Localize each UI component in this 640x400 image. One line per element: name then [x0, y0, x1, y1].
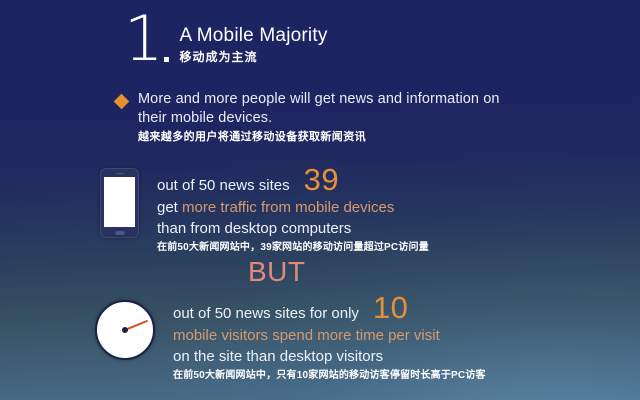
stat-line-2-prefix: get: [157, 199, 182, 216]
header-text-group: A Mobile Majority 移动成为主流: [179, 10, 327, 65]
section-number: 1: [124, 10, 161, 68]
stat-line-2: get more traffic from mobile devices: [157, 197, 429, 218]
stat-block-mobile-traffic: out of 50 news sites 39 get more traffic…: [100, 164, 429, 255]
stat-caption-cn: 在前50大新闻网站中，39家网站的移动访问量超过PC访问量: [157, 240, 429, 255]
phone-speaker-icon: [116, 173, 124, 175]
stat-row: out of 50 news sites for only 10 mobile …: [95, 292, 486, 383]
section-number-group: 1: [124, 10, 169, 68]
stat-line-3: than from desktop computers: [157, 218, 429, 239]
phone-screen: [104, 177, 135, 227]
stat-number: 39: [304, 164, 339, 195]
stat-headline-row: out of 50 news sites 39: [157, 164, 429, 197]
bullet-line-1: More and more people will get news and i…: [138, 90, 500, 109]
stat-block-time-on-site: out of 50 news sites for only 10 mobile …: [95, 292, 486, 383]
stat-line-2-highlight: mobile visitors spend more time per visi…: [173, 327, 440, 344]
mobile-phone-icon: [100, 168, 139, 238]
slide-header: 1 A Mobile Majority 移动成为主流: [124, 10, 328, 68]
bullet-line-2: their mobile devices.: [138, 109, 500, 128]
stat-text-group: out of 50 news sites for only 10 mobile …: [173, 292, 486, 383]
stat-text-group: out of 50 news sites 39 get more traffic…: [157, 164, 429, 255]
stat-number: 10: [373, 292, 408, 323]
slide-canvas: 1 A Mobile Majority 移动成为主流 More and more…: [0, 0, 640, 400]
phone-home-button-icon: [115, 231, 124, 235]
stat-caption-cn: 在前50大新闻网站中，只有10家网站的移动访客停留时长高于PC访客: [173, 368, 486, 383]
stat-line-3: on the site than desktop visitors: [173, 346, 486, 367]
stat-row: out of 50 news sites 39 get more traffic…: [100, 164, 429, 255]
stat-line-2: mobile visitors spend more time per visi…: [173, 325, 486, 346]
page-title: A Mobile Majority: [179, 24, 327, 47]
key-message-bullet: More and more people will get news and i…: [116, 90, 500, 145]
section-number-period-icon: [164, 57, 169, 62]
bullet-caption-cn: 越来越多的用户将通过移动设备获取新闻资讯: [138, 130, 500, 145]
clock-icon: [95, 300, 155, 360]
contrast-divider-label: BUT: [248, 256, 306, 288]
bullet-text-group: More and more people will get news and i…: [138, 90, 500, 145]
clock-center-dot-icon: [122, 327, 128, 333]
stat-line-2-highlight: more traffic from mobile devices: [182, 199, 394, 216]
page-subtitle-cn: 移动成为主流: [179, 49, 327, 65]
diamond-bullet-icon: [114, 94, 130, 110]
stat-lead-text: out of 50 news sites: [157, 175, 290, 197]
stat-lead-text: out of 50 news sites for only: [173, 303, 359, 325]
stat-headline-row: out of 50 news sites for only 10: [173, 292, 486, 325]
